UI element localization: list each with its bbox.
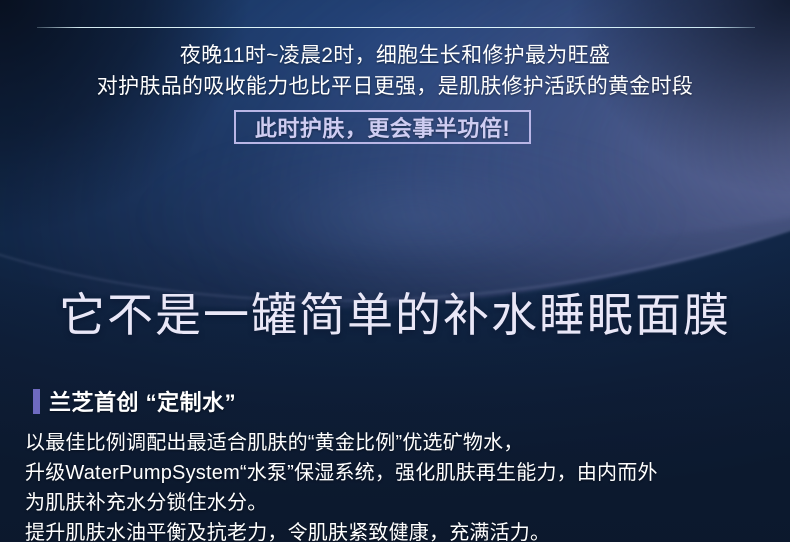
intro-line-1: 夜晚11时~凌晨2时，细胞生长和修护最为旺盛 <box>0 40 790 71</box>
accent-bar-icon <box>33 389 40 414</box>
intro-paragraph: 夜晚11时~凌晨2时，细胞生长和修护最为旺盛 对护肤品的吸收能力也比平日更强，是… <box>0 40 790 102</box>
body-line-3: 为肌肤补充水分锁住水分。 <box>25 488 658 518</box>
page-title: 它不是一罐简单的补水睡眠面膜 <box>0 288 790 344</box>
highlight-callout-box: 此时护肤，更会事半功倍! <box>234 110 531 144</box>
section-subheading-label: 兰芝首创 “定制水” <box>49 385 236 417</box>
content-layer: 夜晚11时~凌晨2时，细胞生长和修护最为旺盛 对护肤品的吸收能力也比平日更强，是… <box>0 0 790 542</box>
intro-line-2: 对护肤品的吸收能力也比平日更强，是肌肤修护活跃的黄金时段 <box>0 71 790 102</box>
body-line-4: 提升肌肤水油平衡及抗老力，令肌肤紧致健康，充满活力。 <box>25 518 658 542</box>
promo-banner: 夜晚11时~凌晨2时，细胞生长和修护最为旺盛 对护肤品的吸收能力也比平日更强，是… <box>0 0 790 542</box>
body-line-2: 升级WaterPumpSystem“水泵”保湿系统，强化肌肤再生能力，由内而外 <box>25 458 658 488</box>
section-subheading: 兰芝首创 “定制水” <box>33 385 236 417</box>
body-paragraph: 以最佳比例调配出最适合肌肤的“黄金比例”优选矿物水， 升级WaterPumpSy… <box>25 428 658 542</box>
body-line-1: 以最佳比例调配出最适合肌肤的“黄金比例”优选矿物水， <box>25 428 658 458</box>
top-divider-line <box>37 27 755 28</box>
highlight-callout-text: 此时护肤，更会事半功倍! <box>255 111 510 143</box>
